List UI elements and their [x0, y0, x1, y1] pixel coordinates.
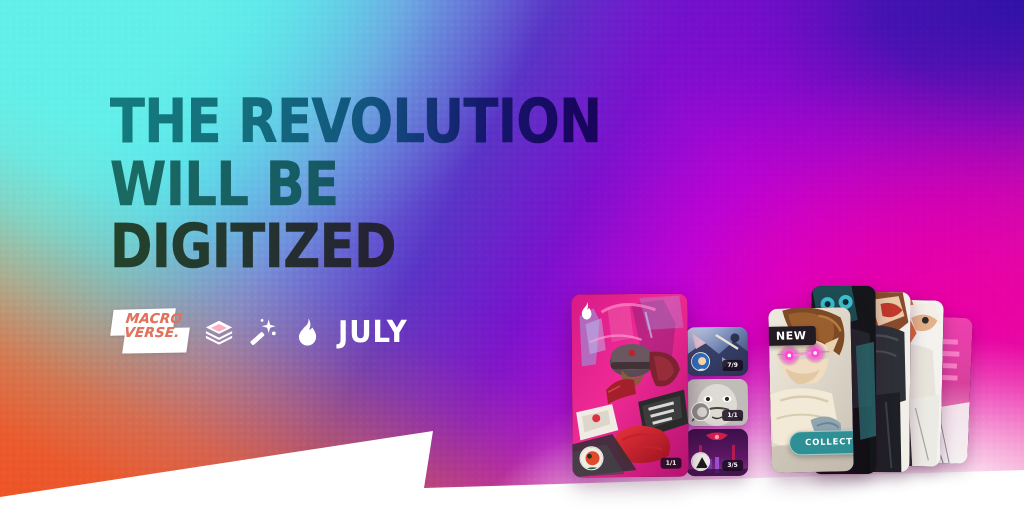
collect-now-button[interactable]: COLLECT NOW: [789, 429, 854, 455]
promo-banner: THE REVOLUTION WILL BE DIGITIZED MACRO V…: [0, 0, 1024, 523]
new-badge: NEW: [768, 326, 815, 346]
front-card[interactable]: NEW COLLECT NOW: [768, 307, 853, 473]
logo-wordmark-line-2: VERSE.: [124, 327, 182, 341]
right-card-group: NEW COLLECT NOW: [0, 0, 1024, 523]
logo-wordmark: MACRO VERSE.: [124, 313, 183, 340]
